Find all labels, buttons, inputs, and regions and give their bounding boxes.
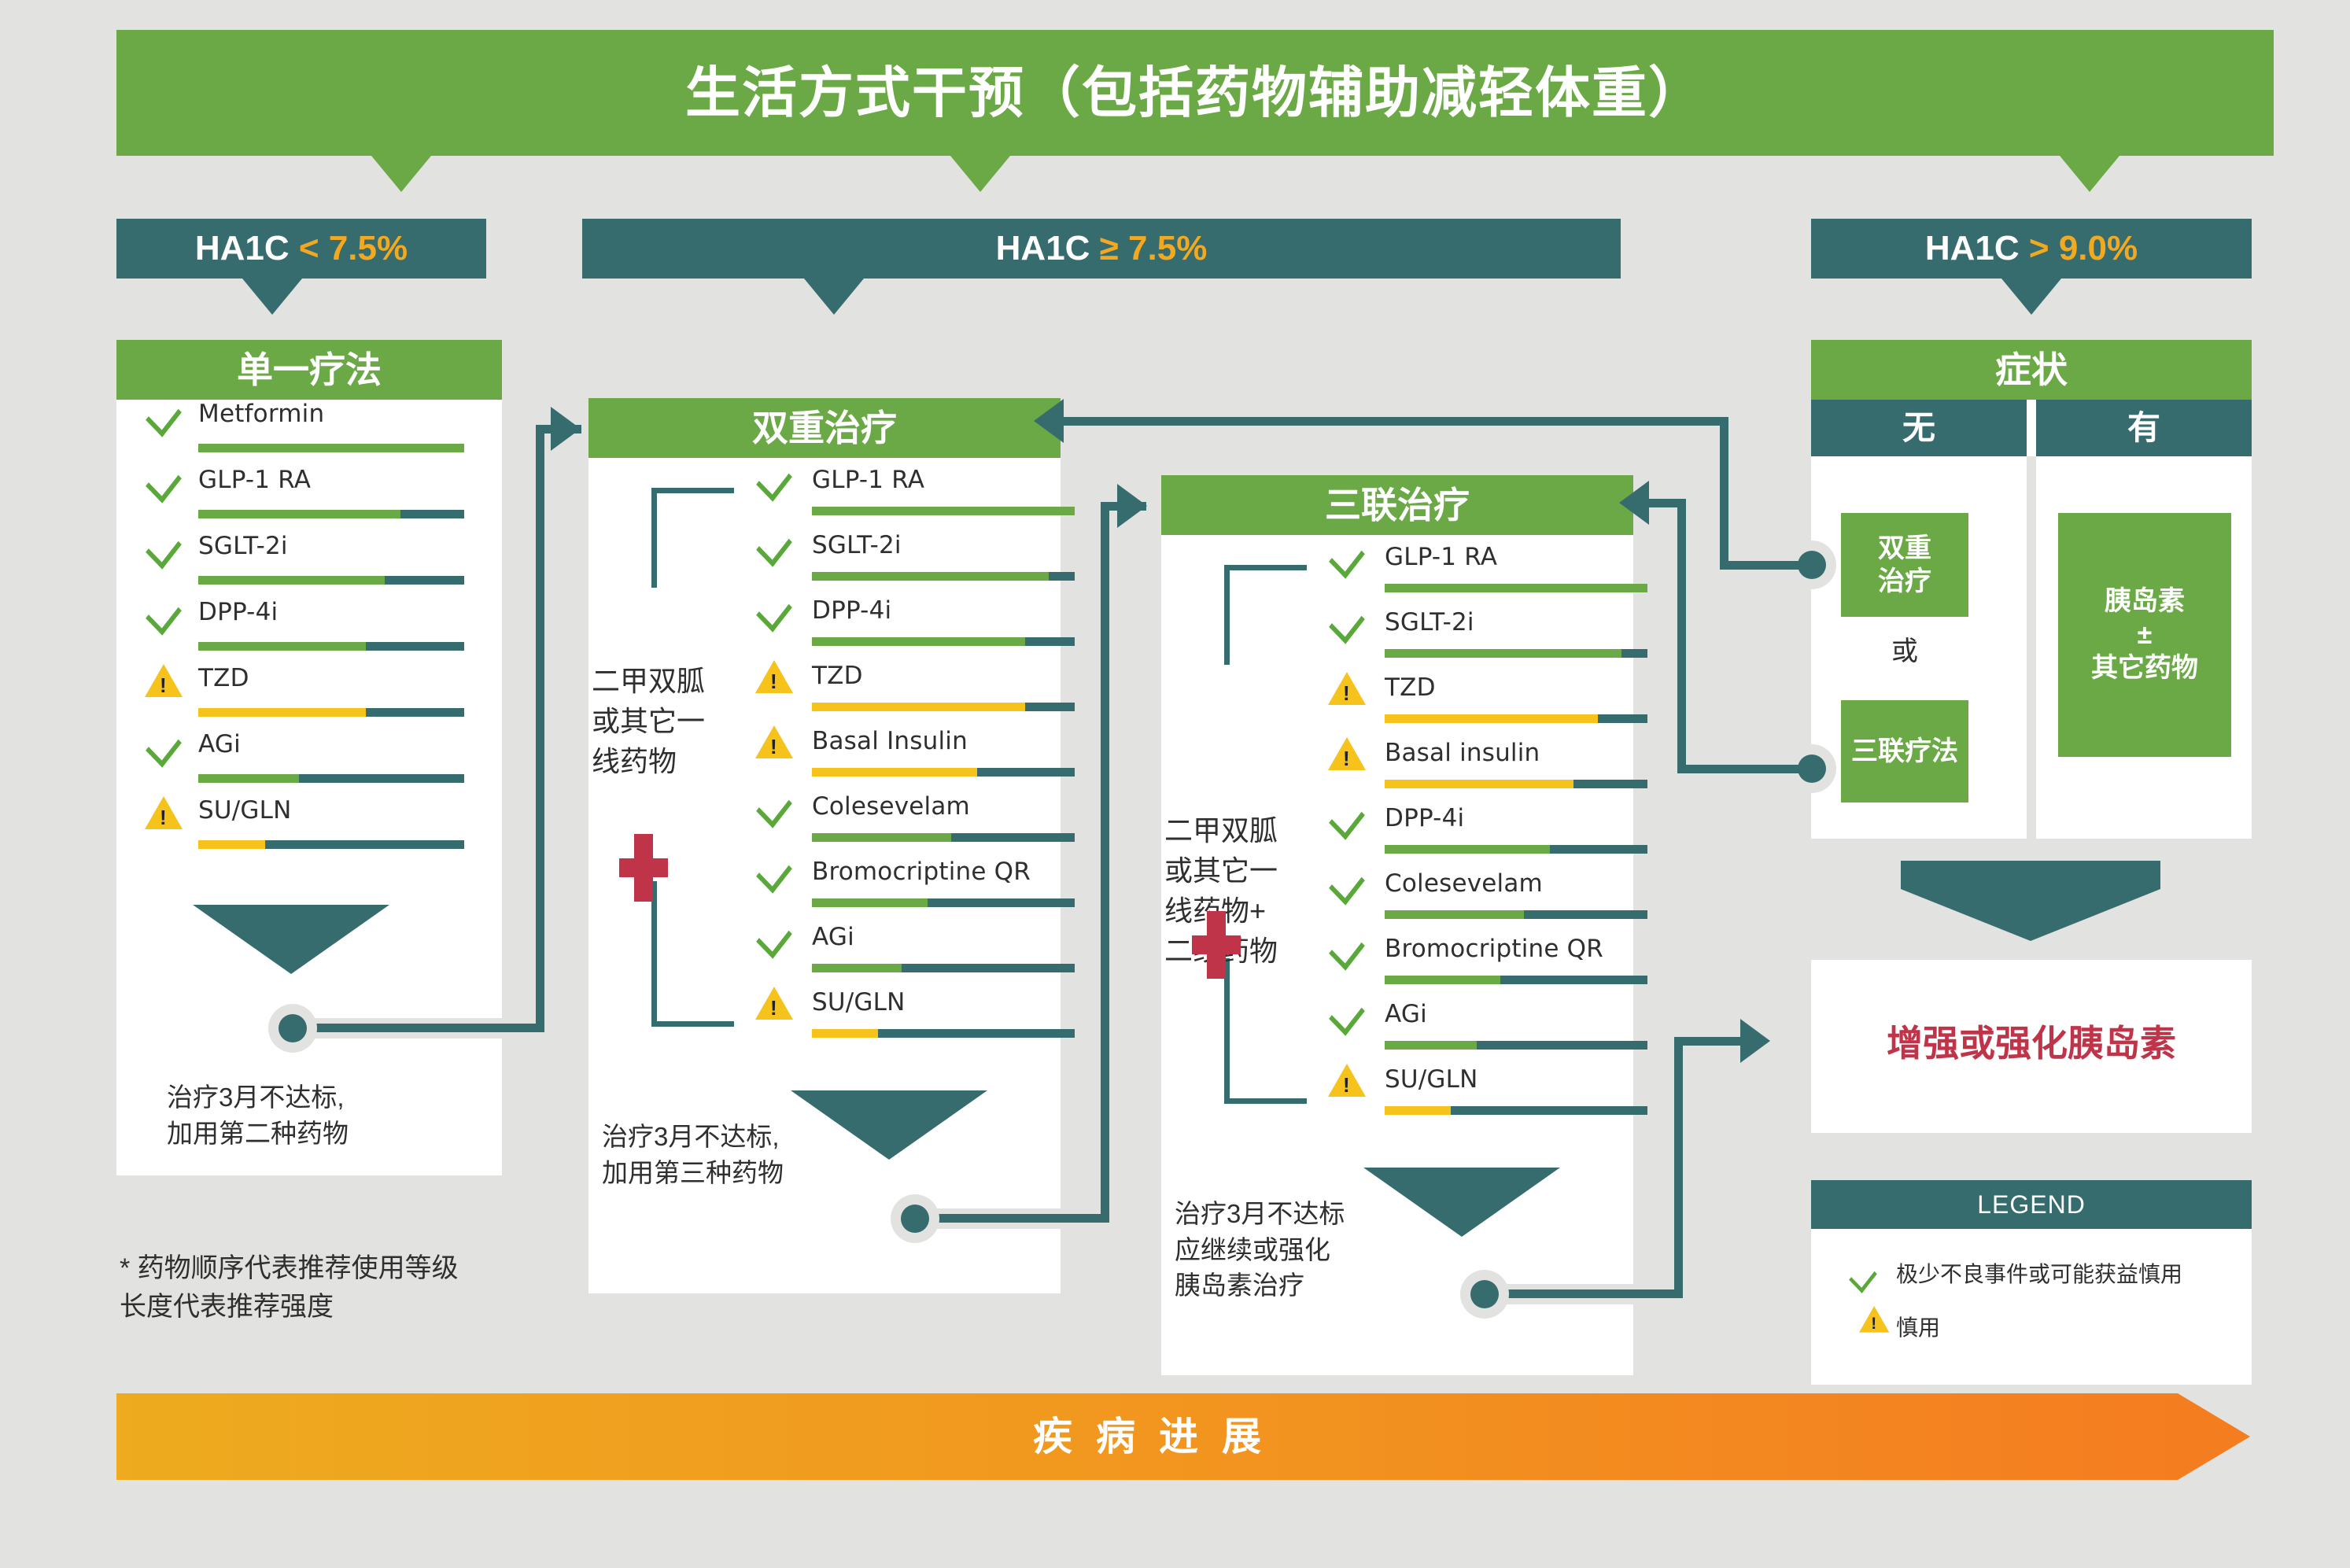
banner-notch-right bbox=[2060, 156, 2119, 192]
symptom-dual-line-v bbox=[1720, 417, 1728, 570]
dual-down-arrow bbox=[791, 1090, 987, 1160]
drug-name: DPP-4i bbox=[198, 598, 278, 626]
drug-name: Basal Insulin bbox=[812, 727, 968, 755]
symptom-insulin-arrow bbox=[1901, 889, 2160, 941]
check-icon bbox=[146, 593, 182, 635]
symptom-no-header: 无 bbox=[1811, 400, 2027, 456]
check-icon bbox=[756, 851, 792, 893]
drug-row: SGLT-2i bbox=[116, 532, 502, 598]
drug-status-mark bbox=[145, 664, 183, 697]
drug-status-mark bbox=[148, 470, 179, 494]
drug-strength-bar bbox=[198, 642, 464, 651]
drug-row: AGi bbox=[116, 730, 502, 796]
symptom-header: 症状 bbox=[1811, 340, 2252, 400]
check-icon bbox=[1329, 798, 1365, 839]
drug-row: GLP-1 RA bbox=[1304, 543, 1627, 608]
drug-row: Colesevelam bbox=[732, 792, 1054, 858]
drug-status-mark bbox=[148, 735, 179, 758]
drug-status-mark bbox=[148, 603, 179, 626]
drug-strength-bar bbox=[1385, 584, 1647, 592]
dual-triple-connector-h bbox=[913, 1214, 1109, 1223]
drug-name: AGi bbox=[812, 923, 854, 951]
ha1c-high-notch bbox=[2001, 279, 2061, 315]
warning-icon bbox=[145, 796, 183, 829]
drug-strength-fill bbox=[1385, 845, 1550, 854]
drug-row: TZD bbox=[1304, 673, 1627, 739]
drug-name: AGi bbox=[198, 730, 241, 758]
drug-strength-fill bbox=[812, 572, 1049, 581]
drug-strength-bar bbox=[1385, 1041, 1647, 1050]
drug-strength-bar bbox=[812, 703, 1075, 711]
mono-dual-connector-h bbox=[291, 1024, 544, 1032]
drug-strength-fill bbox=[812, 898, 928, 907]
drug-strength-fill bbox=[198, 774, 299, 783]
ha1c-branch-low: HA1C < 7.5% bbox=[116, 219, 486, 279]
insulin-intensify-text: 增强或强化胰岛素 bbox=[1811, 1015, 2252, 1067]
dual-bracket-top bbox=[651, 488, 734, 588]
drug-status-mark bbox=[758, 469, 790, 493]
symptom-yes-header: 有 bbox=[2036, 400, 2252, 456]
triple-insulin-connector-v bbox=[1674, 1037, 1683, 1298]
ha1c-low-value: < 7.5% bbox=[299, 229, 408, 267]
ha1c-low-notch bbox=[242, 279, 302, 315]
drug-row: SGLT-2i bbox=[732, 531, 1054, 596]
drug-name: Colesevelam bbox=[812, 792, 970, 821]
drug-strength-fill bbox=[1385, 649, 1621, 658]
drug-status-mark bbox=[145, 796, 183, 829]
drug-status-mark bbox=[1331, 807, 1363, 831]
symptom-dual-line-h2 bbox=[1064, 417, 1728, 426]
triple-bracket-top bbox=[1224, 565, 1307, 665]
drug-name: Bromocriptine QR bbox=[812, 858, 1031, 886]
drug-status-mark bbox=[1331, 546, 1363, 570]
drug-name: Bromocriptine QR bbox=[1385, 935, 1603, 963]
symptom-triple-line-h1 bbox=[1677, 765, 1813, 773]
drug-strength-bar bbox=[1385, 910, 1647, 919]
drug-name: DPP-4i bbox=[812, 596, 891, 625]
drug-row: AGi bbox=[1304, 1000, 1627, 1065]
drug-status-mark bbox=[758, 534, 790, 558]
symptom-triple-arrow-head bbox=[1619, 481, 1649, 525]
symptom-yes-option-insulin[interactable]: 胰岛素 ± 其它药物 bbox=[2058, 513, 2231, 757]
disease-progression-arrowhead bbox=[2178, 1393, 2250, 1480]
ha1c-high-value: > 9.0% bbox=[2029, 229, 2138, 267]
drug-row: DPP-4i bbox=[116, 598, 502, 664]
drug-strength-fill bbox=[812, 703, 1025, 711]
drug-strength-fill bbox=[812, 507, 1075, 515]
drug-name: SU/GLN bbox=[1385, 1065, 1478, 1094]
legend-item-0-text: 极少不良事件或可能获益慎用 bbox=[1896, 1257, 2182, 1289]
check-icon bbox=[756, 917, 792, 958]
drug-name: TZD bbox=[1385, 673, 1436, 702]
drug-row: Basal Insulin bbox=[732, 727, 1054, 792]
triple-therapy-header: 三联治疗 bbox=[1161, 475, 1633, 535]
drug-status-mark bbox=[148, 404, 179, 428]
drug-strength-fill bbox=[1385, 1106, 1451, 1115]
drug-row: SU/GLN bbox=[1304, 1065, 1627, 1131]
disease-progression-label: 疾病进展 bbox=[116, 1393, 2178, 1480]
drug-row: DPP-4i bbox=[732, 596, 1054, 662]
drug-strength-bar bbox=[198, 708, 464, 717]
warning-icon bbox=[1328, 672, 1366, 705]
drug-status-mark bbox=[758, 600, 790, 623]
drug-strength-fill bbox=[812, 1029, 878, 1038]
triple-caption: 治疗3月不达标 应继续或强化 胰岛素治疗 bbox=[1175, 1196, 1345, 1304]
triple-insulin-arrow-head bbox=[1740, 1019, 1770, 1063]
drug-strength-fill bbox=[1385, 584, 1647, 592]
drug-strength-bar bbox=[812, 1029, 1075, 1038]
symptom-yes-label: 有 bbox=[2036, 400, 2252, 456]
drug-strength-bar bbox=[812, 964, 1075, 972]
drug-strength-bar bbox=[198, 840, 464, 849]
check-icon bbox=[146, 725, 182, 767]
drug-status-mark bbox=[755, 660, 793, 693]
drug-strength-bar bbox=[198, 576, 464, 585]
triple-insulin-connector-h bbox=[1485, 1289, 1682, 1298]
drug-strength-bar bbox=[812, 898, 1075, 907]
dual-triple-connector-v bbox=[1101, 502, 1109, 1223]
monotherapy-down-arrow bbox=[193, 905, 389, 974]
check-icon bbox=[1329, 537, 1365, 578]
warning-icon bbox=[1328, 737, 1366, 770]
drug-name: TZD bbox=[198, 664, 249, 692]
drug-strength-fill bbox=[1385, 780, 1573, 788]
check-icon bbox=[146, 395, 182, 437]
drug-name: SU/GLN bbox=[198, 796, 292, 825]
ha1c-mid-prefix: HA1C bbox=[996, 229, 1100, 267]
symptom-column-divider bbox=[2027, 456, 2036, 839]
warning-icon bbox=[1328, 1064, 1366, 1097]
warning-icon bbox=[145, 664, 183, 697]
drug-strength-fill bbox=[812, 964, 902, 972]
dual-bracket-label: 二甲双胍 或其它一 线药物 bbox=[592, 661, 705, 781]
drug-strength-fill bbox=[1385, 1041, 1477, 1050]
symptom-dual-arrow-head bbox=[1034, 399, 1064, 443]
drug-status-mark bbox=[758, 861, 790, 884]
drug-status-mark bbox=[758, 795, 790, 819]
drug-row: TZD bbox=[116, 664, 502, 730]
drug-strength-bar bbox=[198, 510, 464, 518]
lifestyle-intervention-banner: 生活方式干预（包括药物辅助减轻体重） bbox=[116, 30, 2274, 156]
mono-dual-connector-v bbox=[536, 425, 544, 1032]
drug-strength-fill bbox=[198, 444, 464, 452]
drug-name: SGLT-2i bbox=[198, 532, 288, 560]
drug-row: Basal insulin bbox=[1304, 739, 1627, 804]
legend-title: LEGEND bbox=[1811, 1180, 2252, 1229]
ha1c-branch-high: HA1C > 9.0% bbox=[1811, 219, 2252, 279]
drug-row: SGLT-2i bbox=[1304, 608, 1627, 673]
check-icon bbox=[756, 590, 792, 632]
drug-status-mark bbox=[1328, 672, 1366, 705]
drug-status-mark bbox=[1331, 1003, 1363, 1027]
triple-bracket-bottom bbox=[1224, 958, 1307, 1104]
warning-icon bbox=[755, 987, 793, 1020]
drug-status-mark bbox=[755, 987, 793, 1020]
dual-connector-node bbox=[891, 1194, 939, 1243]
drug-strength-fill bbox=[198, 840, 265, 849]
drug-strength-bar bbox=[1385, 976, 1647, 984]
ha1c-high-prefix: HA1C bbox=[1925, 229, 2029, 267]
dual-therapy-header: 双重治疗 bbox=[588, 398, 1061, 458]
check-icon bbox=[756, 459, 792, 501]
disease-progression-bar: 疾病进展 bbox=[116, 1393, 2178, 1480]
banner-notch-left bbox=[371, 156, 431, 192]
drug-row: Bromocriptine QR bbox=[1304, 935, 1627, 1000]
drug-name: Metformin bbox=[198, 400, 324, 428]
symptom-no-label: 无 bbox=[1811, 400, 2027, 456]
drug-strength-fill bbox=[198, 708, 366, 717]
legend-header: LEGEND bbox=[1811, 1180, 2252, 1229]
drug-row: Bromocriptine QR bbox=[732, 858, 1054, 923]
drug-status-mark bbox=[1331, 873, 1363, 896]
drug-status-mark bbox=[1328, 737, 1366, 770]
drug-name: SU/GLN bbox=[812, 988, 906, 1016]
legend-item-1-text: 慎用 bbox=[1896, 1311, 1940, 1342]
legend-warning-icon bbox=[1859, 1306, 1889, 1333]
drug-row: SU/GLN bbox=[116, 796, 502, 862]
drug-strength-bar bbox=[812, 768, 1075, 777]
symptom-title: 症状 bbox=[1811, 340, 2252, 400]
symptom-no-option-triple[interactable]: 三联疗法 bbox=[1841, 700, 1968, 802]
drug-name: GLP-1 RA bbox=[198, 466, 311, 494]
drug-status-mark bbox=[755, 725, 793, 758]
drug-status-mark bbox=[1331, 611, 1363, 635]
ha1c-mid-value: ≥ 7.5% bbox=[1100, 229, 1208, 267]
triple-therapy-drug-list: GLP-1 RASGLT-2iTZDBasal insulinDPP-4iCol… bbox=[1304, 543, 1627, 1196]
drug-strength-bar bbox=[1385, 845, 1647, 854]
drug-name: GLP-1 RA bbox=[1385, 543, 1497, 571]
drug-strength-bar bbox=[812, 572, 1075, 581]
drug-row: AGi bbox=[732, 923, 1054, 988]
dual-caption: 治疗3月不达标, 加用第三种药物 bbox=[602, 1119, 784, 1190]
drug-name: AGi bbox=[1385, 1000, 1427, 1028]
drug-row: TZD bbox=[732, 662, 1054, 727]
drug-name: GLP-1 RA bbox=[812, 466, 924, 494]
banner-notch-mid bbox=[950, 156, 1010, 192]
drug-name: Colesevelam bbox=[1385, 869, 1543, 898]
drug-strength-fill bbox=[198, 642, 366, 651]
drug-row: GLP-1 RA bbox=[116, 466, 502, 532]
drug-row: SU/GLN bbox=[732, 988, 1054, 1053]
check-icon bbox=[1329, 928, 1365, 970]
drug-status-mark bbox=[148, 537, 179, 560]
drug-strength-fill bbox=[1385, 976, 1500, 984]
symptom-insulin-bar bbox=[1901, 861, 2160, 889]
drug-name: SGLT-2i bbox=[812, 531, 902, 559]
dual-triple-arrow-head bbox=[1117, 484, 1147, 528]
triple-down-arrow bbox=[1363, 1168, 1560, 1237]
symptom-no-option-dual[interactable]: 双重 治疗 bbox=[1841, 513, 1968, 617]
drug-strength-bar bbox=[812, 637, 1075, 646]
symptom-dual-line-h1 bbox=[1720, 561, 1813, 570]
drug-strength-bar bbox=[812, 507, 1075, 515]
ha1c-mid-notch bbox=[804, 279, 864, 315]
drug-strength-fill bbox=[1385, 910, 1524, 919]
drug-status-mark bbox=[758, 926, 790, 950]
drug-strength-fill bbox=[198, 576, 385, 585]
check-icon bbox=[1329, 602, 1365, 644]
dual-therapy-title: 双重治疗 bbox=[588, 398, 1061, 458]
monotherapy-caption: 治疗3月不达标, 加用第二种药物 bbox=[167, 1079, 349, 1151]
drug-row: GLP-1 RA bbox=[732, 466, 1054, 531]
drug-strength-fill bbox=[198, 510, 400, 518]
drug-strength-fill bbox=[1385, 714, 1598, 723]
drug-strength-bar bbox=[198, 774, 464, 783]
drug-strength-bar bbox=[1385, 649, 1647, 658]
symptom-or-label: 或 bbox=[1841, 629, 1968, 668]
drug-strength-fill bbox=[812, 833, 951, 842]
drug-row: Metformin bbox=[116, 400, 502, 466]
drug-strength-fill bbox=[812, 768, 977, 777]
footnote: * 药物顺序代表推荐使用等级 长度代表推荐强度 bbox=[120, 1249, 459, 1327]
check-icon bbox=[1329, 863, 1365, 905]
ha1c-low-prefix: HA1C bbox=[195, 229, 299, 267]
triple-connector-node bbox=[1460, 1270, 1509, 1319]
drug-status-mark bbox=[1328, 1064, 1366, 1097]
dual-therapy-drug-list: GLP-1 RASGLT-2iDPP-4iTZDBasal InsulinCol… bbox=[732, 466, 1054, 1119]
triple-therapy-title: 三联治疗 bbox=[1161, 475, 1633, 535]
mono-connector-node bbox=[268, 1004, 317, 1053]
drug-strength-bar bbox=[198, 444, 464, 452]
check-icon bbox=[146, 527, 182, 569]
warning-icon bbox=[755, 660, 793, 693]
drug-name: Basal insulin bbox=[1385, 739, 1540, 767]
drug-strength-bar bbox=[1385, 714, 1647, 723]
check-icon bbox=[756, 525, 792, 566]
symptom-triple-line-h2 bbox=[1649, 499, 1686, 507]
mono-dual-arrow-head bbox=[551, 407, 581, 451]
drug-row: Colesevelam bbox=[1304, 869, 1627, 935]
drug-strength-bar bbox=[1385, 1106, 1647, 1115]
drug-name: SGLT-2i bbox=[1385, 608, 1474, 636]
check-icon bbox=[756, 786, 792, 828]
drug-row: DPP-4i bbox=[1304, 804, 1627, 869]
warning-icon bbox=[755, 725, 793, 758]
check-icon bbox=[1329, 994, 1365, 1035]
check-icon bbox=[146, 461, 182, 503]
drug-strength-bar bbox=[1385, 780, 1647, 788]
symptom-triple-line-v bbox=[1677, 499, 1686, 773]
drug-strength-fill bbox=[812, 637, 1025, 646]
triple-insulin-connector-top bbox=[1674, 1037, 1742, 1046]
triple-plus-horizontal bbox=[1192, 935, 1241, 954]
page-title: 生活方式干预（包括药物辅助减轻体重） bbox=[116, 30, 2274, 156]
dual-bracket-bottom bbox=[651, 881, 734, 1027]
ha1c-branch-mid: HA1C ≥ 7.5% bbox=[582, 219, 1621, 279]
dual-plus-horizontal bbox=[619, 858, 668, 877]
drug-status-mark bbox=[1331, 938, 1363, 961]
drug-name: TZD bbox=[812, 662, 863, 690]
monotherapy-title: 单一疗法 bbox=[116, 340, 502, 400]
monotherapy-header: 单一疗法 bbox=[116, 340, 502, 400]
drug-name: DPP-4i bbox=[1385, 804, 1464, 832]
drug-strength-bar bbox=[812, 833, 1075, 842]
